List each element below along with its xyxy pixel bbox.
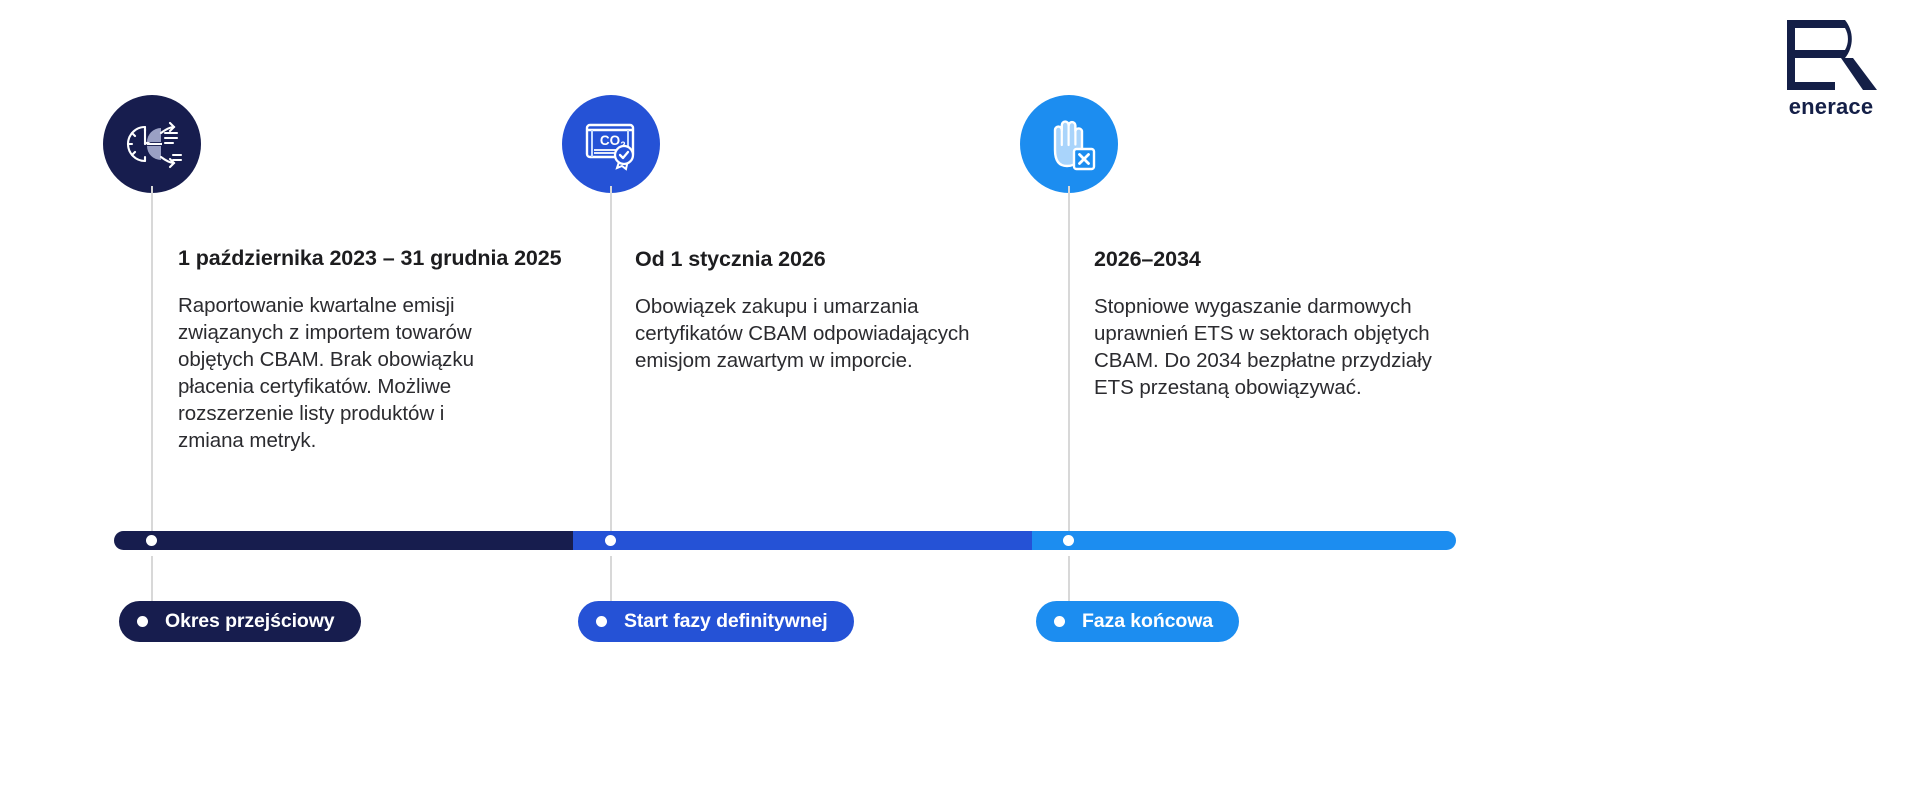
milestone-icon-circle-1: [103, 95, 201, 193]
pie-chart-clock-report-icon: [121, 117, 183, 171]
stop-hand-cancel-icon: [1042, 116, 1096, 172]
milestone-icon-circle-2: CO 2: [562, 95, 660, 193]
timeline-segment-2: [573, 531, 1032, 550]
er-monogram-icon: [1783, 16, 1879, 94]
milestone-date-2: Od 1 stycznia 2026: [635, 246, 1040, 273]
connector-line-3: [1068, 186, 1070, 546]
milestone-icon-circle-3: [1020, 95, 1118, 193]
bullet-dot-icon: [1054, 616, 1065, 627]
milestone-column-2: Od 1 stycznia 2026 Obowiązek zakupu i um…: [635, 245, 1040, 374]
brand-logo: enerace: [1766, 16, 1896, 118]
milestone-body-2: Obowiązek zakupu i umarzania certyfikató…: [635, 293, 985, 374]
phase-pill-label-2: Start fazy definitywnej: [624, 610, 828, 633]
co2-certificate-icon: CO 2: [582, 117, 640, 171]
phase-pill-label-1: Okres przejściowy: [165, 610, 335, 633]
milestone-body-3: Stopniowe wygaszanie darmowych uprawnień…: [1094, 293, 1466, 401]
brand-name: enerace: [1766, 96, 1896, 118]
milestone-body-1: Raportowanie kwartalne emisji związanych…: [178, 292, 508, 454]
milestone-column-3: 2026–2034 Stopniowe wygaszanie darmowych…: [1094, 245, 1499, 401]
milestone-column-1: 1 października 2023 – 31 grudnia 2025 Ra…: [178, 245, 583, 454]
phase-pill-2[interactable]: Start fazy definitywnej: [578, 601, 854, 642]
connector-line-1: [151, 186, 153, 546]
timeline-marker-2: [605, 535, 616, 546]
bullet-dot-icon: [596, 616, 607, 627]
connector-line-2: [610, 186, 612, 546]
milestone-date-3: 2026–2034: [1094, 246, 1499, 273]
timeline-infographic: enerace CO 2: [0, 0, 1920, 785]
timeline-marker-1: [146, 535, 157, 546]
timeline-marker-3: [1063, 535, 1074, 546]
timeline-segment-3: [1032, 531, 1456, 550]
svg-text:CO: CO: [600, 133, 620, 148]
timeline-bar: [114, 531, 1456, 550]
phase-pill-3[interactable]: Faza końcowa: [1036, 601, 1239, 642]
timeline-segment-1: [114, 531, 573, 550]
bullet-dot-icon: [137, 616, 148, 627]
phase-pill-1[interactable]: Okres przejściowy: [119, 601, 361, 642]
milestone-date-1: 1 października 2023 – 31 grudnia 2025: [178, 245, 583, 272]
phase-pill-label-3: Faza końcowa: [1082, 610, 1213, 633]
